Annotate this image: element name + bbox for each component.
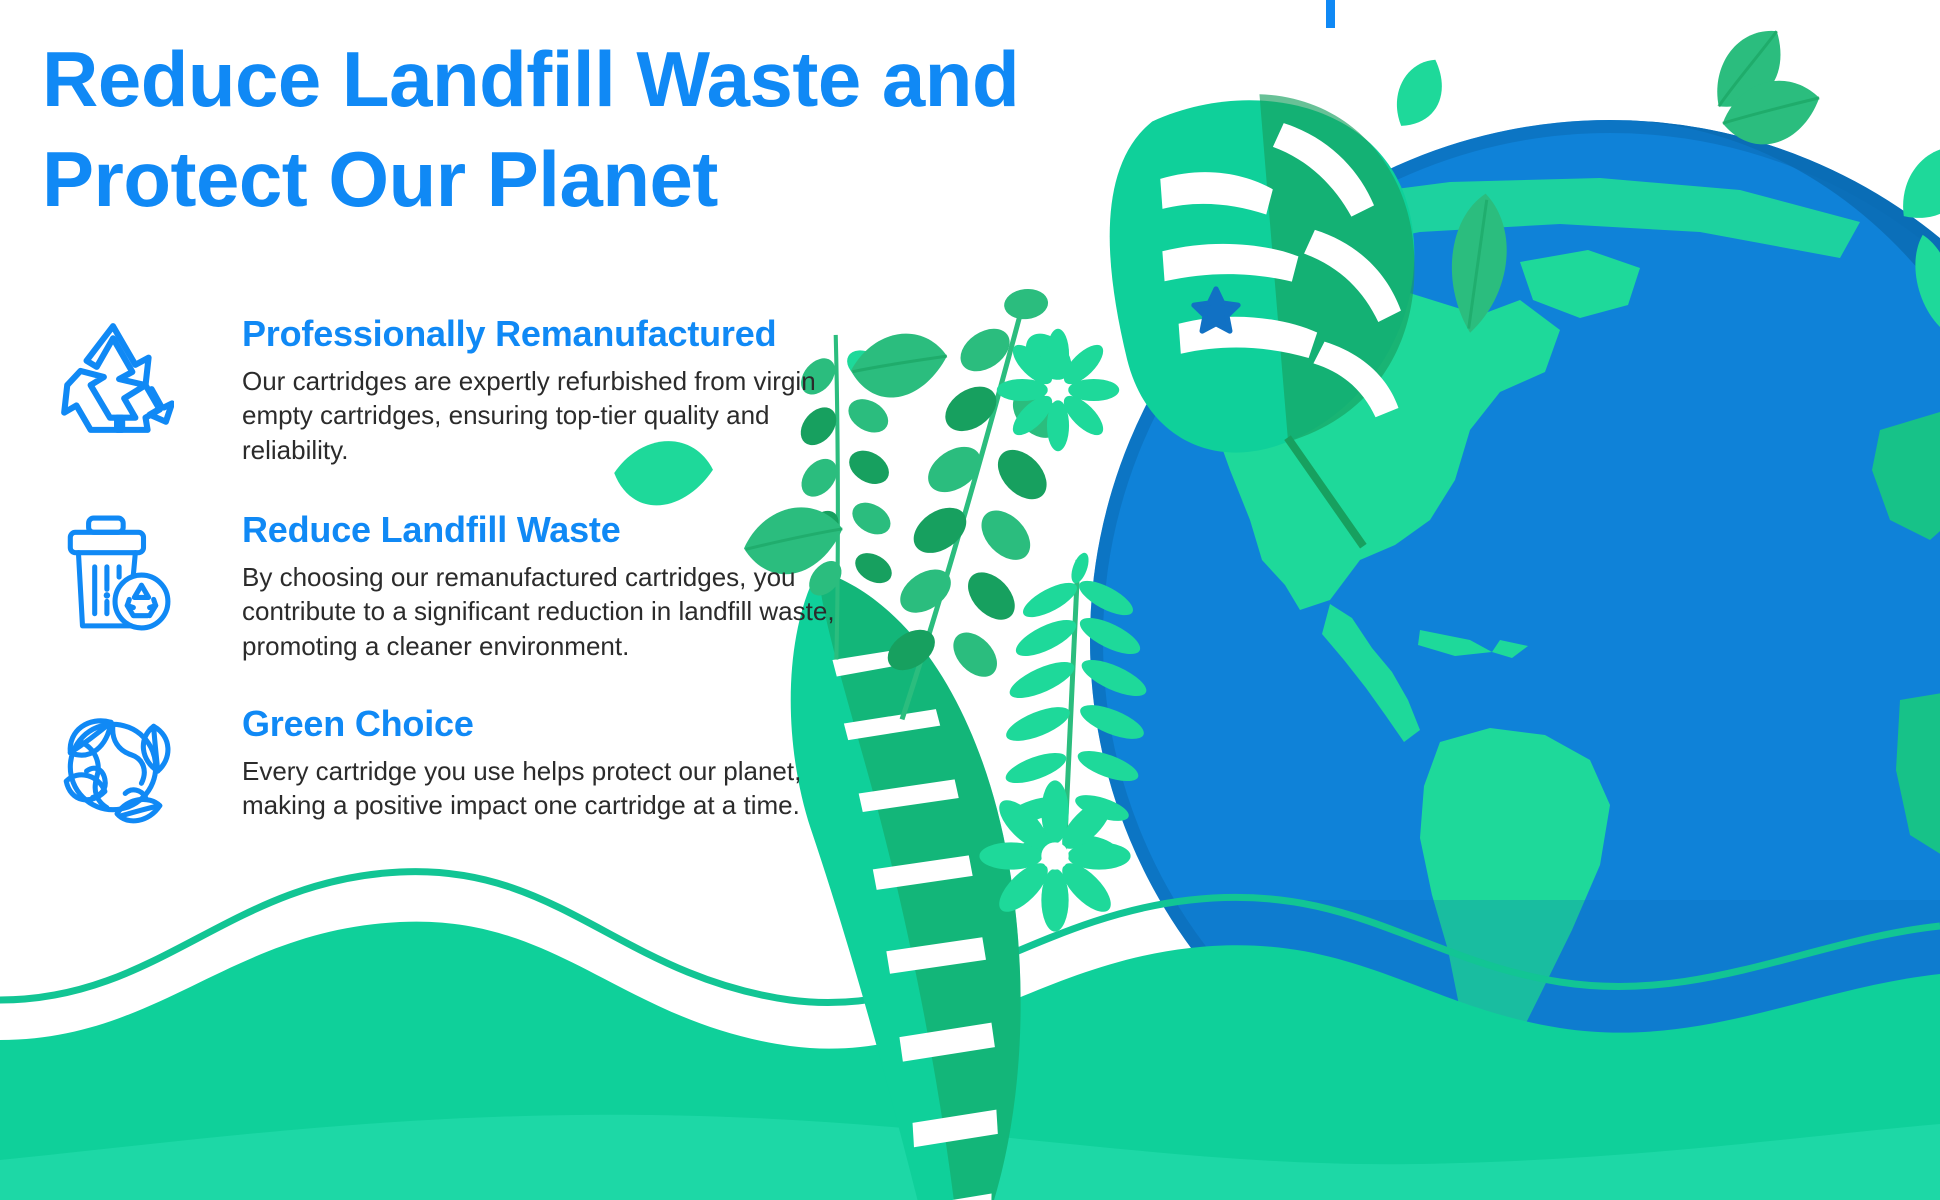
feature-item-green-choice: Green Choice Every cartridge you use hel…	[42, 702, 842, 874]
daisy-flower	[997, 329, 1119, 451]
feature-list: Professionally Remanufactured Our cartri…	[42, 312, 842, 874]
globe-leaves-icon	[52, 706, 174, 828]
daisy-flower	[979, 780, 1130, 931]
page-title: Reduce Landfill Waste and Protect Our Pl…	[42, 30, 1142, 230]
feature-body: Reduce Landfill Waste By choosing our re…	[242, 508, 842, 663]
feature-body: Professionally Remanufactured Our cartri…	[242, 312, 842, 467]
feature-text: By choosing our remanufactured cartridge…	[242, 560, 842, 664]
trash-recycle-icon	[52, 512, 174, 634]
feature-heading: Professionally Remanufactured	[242, 314, 842, 354]
feature-text: Our cartridges are expertly refurbished …	[242, 364, 842, 468]
floating-leaf	[1379, 56, 1460, 132]
accent-tick	[1326, 0, 1335, 28]
feature-body: Green Choice Every cartridge you use hel…	[242, 702, 842, 823]
infographic-canvas: Reduce Landfill Waste and Protect Our Pl…	[0, 0, 1940, 1200]
feature-item-reduce-landfill-waste: Reduce Landfill Waste By choosing our re…	[42, 508, 842, 680]
recycle-icon	[52, 316, 174, 438]
feature-heading: Reduce Landfill Waste	[242, 510, 842, 550]
feature-heading: Green Choice	[242, 704, 842, 744]
feature-item-professionally-remanufactured: Professionally Remanufactured Our cartri…	[42, 312, 842, 484]
feature-text: Every cartridge you use helps protect ou…	[242, 754, 842, 823]
